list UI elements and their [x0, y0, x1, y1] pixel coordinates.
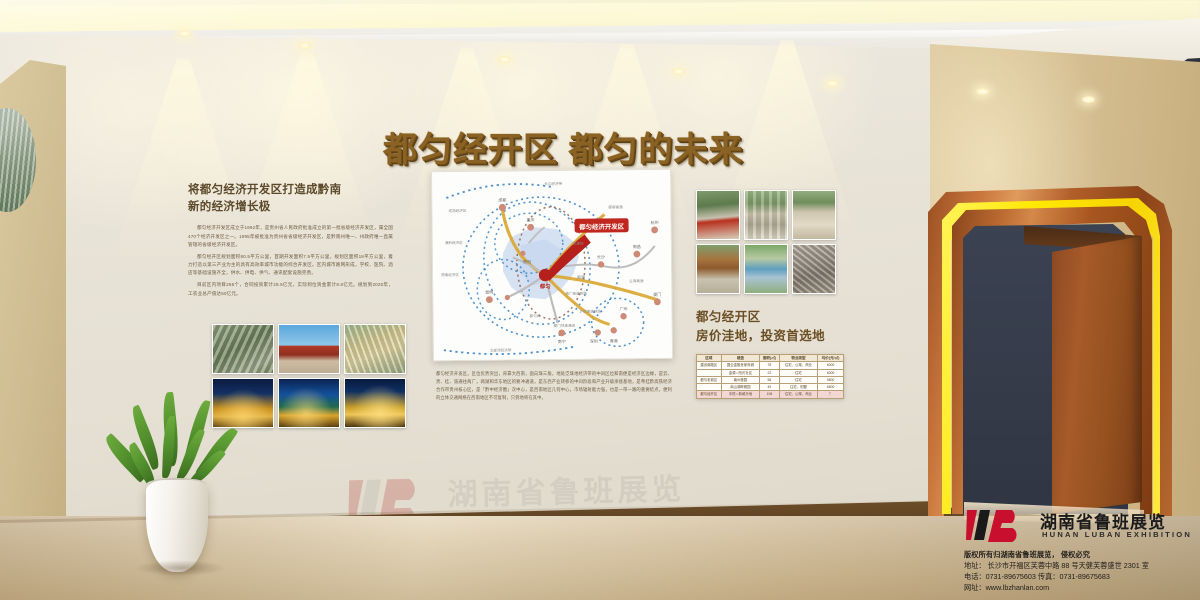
table-row: 建设南路区 国企金融世家商城 78 住宅、公寓、商业 6000	[697, 362, 844, 369]
svg-text:南昌: 南昌	[633, 243, 641, 249]
photo-thumbnail	[278, 378, 340, 428]
left-paragraph: 目前区内项目265个，合同投资累计28.5亿元，实际到位资金累计8.6亿元。规划…	[188, 281, 393, 297]
left-heading: 将都匀经济开发区打造成黔南 新的经济增长极	[188, 182, 393, 215]
table-cell: 建设南路区	[697, 362, 722, 369]
footer-brand-block: 湖南省鲁班展览 HUNAN LUBAN EXHIBITION 版权所有归湖南省鲁…	[958, 506, 1198, 598]
photo-thumbnail	[696, 190, 740, 240]
table-row: 南山湖畔雅园 49 住宅、别墅 6800	[697, 384, 844, 391]
table-cell: 国企金融世家商城	[721, 362, 760, 369]
photo-thumbnail	[212, 324, 274, 374]
planter-shadow	[134, 560, 226, 576]
table-cell: 58	[760, 376, 779, 383]
svg-text:西南经济区: 西南经济区	[441, 272, 459, 277]
table-cell: ？	[818, 391, 844, 398]
left-text-column: 将都匀经济开发区打造成黔南 新的经济增长极 都匀经济开发区成立于1992年，是贵…	[188, 182, 393, 302]
svg-text:贵阳: 贵阳	[523, 258, 531, 264]
downlight-5	[976, 88, 989, 95]
table-cell: 中恒 • 新城天地	[721, 391, 760, 398]
downlight-6	[1082, 96, 1095, 103]
photo-thumbnail	[344, 378, 406, 428]
svg-text:长沙: 长沙	[597, 253, 605, 259]
wall-graphic-panel: 都匀经开区 都匀的未来 将都匀经济开发区打造成黔南 新的经济增长极 都匀经济开发…	[188, 112, 856, 442]
footer-contact-info: 版权所有归湖南省鲁班展览， 侵权必究 地址： 长沙市开福区芙蓉中路 88 号天健…	[964, 550, 1196, 594]
table-cell: 都匀经开区	[697, 391, 722, 398]
left-body-text: 都匀经济开发区成立于1992年，是贵州省人民政府批准成立的第一批省级经济开发区，…	[188, 224, 393, 297]
table-header-cell: 面积(㎡)	[760, 355, 779, 362]
table-cell	[697, 384, 722, 391]
table-cell: 6800	[818, 384, 844, 391]
photo-thumbnail	[278, 324, 340, 374]
table-cell: 南山湖畔雅园	[721, 384, 760, 391]
downlight-2	[498, 56, 511, 63]
svg-text:凯里: 凯里	[577, 274, 585, 280]
svg-text:昆明: 昆明	[485, 290, 493, 295]
svg-text:厦门: 厦门	[653, 291, 661, 297]
luban-logo-icon	[966, 508, 1030, 542]
table-cell: 住宅	[779, 369, 818, 376]
footer-brand-english: HUNAN LUBAN EXHIBITION	[1042, 530, 1192, 539]
svg-text:深圳: 深圳	[590, 338, 598, 344]
footer-address: 地址： 长沙市开福区芙蓉中路 88 号天健芙蓉盛世 2301 室	[964, 561, 1196, 572]
svg-text:厦蓉高速: 厦蓉高速	[608, 204, 623, 209]
photo-thumbnail	[344, 324, 406, 374]
table-row-highlighted: 都匀经开区 中恒 • 新城天地 108 住宅、公寓、商业 ？	[697, 391, 844, 398]
planter-pot	[146, 480, 208, 572]
table-cell: 108	[760, 391, 779, 398]
scene-root: 都匀经开区 都匀的未来 将都匀经济开发区打造成黔南 新的经济增长极 都匀经济开发…	[0, 0, 1200, 600]
right-sub-heading: 都匀经开区 房价洼地，投资首选地	[696, 308, 825, 346]
svg-text:厦门快速通道: 厦门快速通道	[554, 323, 576, 328]
photo-thumbnail	[792, 244, 836, 294]
right-photo-grid	[696, 190, 836, 294]
map-caption: 都匀经济开发区，区位优势突出，背靠大西南，面向珠三角，地处泛珠地经济带的中间区位…	[436, 370, 672, 402]
table-header-cell: 物业类型	[779, 355, 818, 362]
downlight-4	[826, 80, 839, 87]
svg-text:都匀城: 都匀城	[530, 313, 541, 318]
table-header-cell: 区域	[697, 355, 722, 362]
table-cell: 22	[760, 369, 779, 376]
circular-photo-left	[0, 108, 36, 212]
photo-thumbnail	[792, 190, 836, 240]
regional-connectivity-map: 都匀经济开发区	[431, 169, 673, 362]
table-cell: 5800	[818, 376, 844, 383]
svg-text:兰海高速: 兰海高速	[629, 278, 644, 283]
svg-text:重庆: 重庆	[526, 216, 534, 222]
doorway[interactable]	[928, 186, 1180, 524]
table-cell: 住宅、公寓、商业	[779, 362, 818, 369]
table-cell: 住宅	[779, 376, 818, 383]
left-paragraph: 都匀经开区规划面积80.5平方公里，首期开发面积7.5平方公里，规划区面积18平…	[188, 253, 393, 278]
table-cell: 金源 • 阳光社区	[721, 369, 760, 376]
svg-text:都匀: 都匀	[539, 282, 551, 290]
svg-text:贵广高速铁路: 贵广高速铁路	[565, 291, 587, 296]
left-heading-line2: 新的经济增长极	[188, 199, 393, 216]
footer-phone: 电话：0731-89675603 传真：0731-89675683	[964, 572, 1196, 583]
svg-text:北部湾经济带: 北部湾经济带	[490, 347, 512, 352]
svg-text:杭州: 杭州	[651, 219, 659, 225]
table-cell: 南州雅园	[721, 376, 760, 383]
table-header-cell: 楼盘	[721, 355, 760, 362]
table-cell: 6000	[818, 369, 844, 376]
table-cell	[697, 369, 722, 376]
photo-thumbnail	[744, 190, 788, 240]
downlight-1	[298, 42, 311, 49]
page-title: 都匀经开区 都匀的未来	[383, 122, 743, 171]
svg-text:广州: 广州	[619, 305, 627, 311]
svg-text:南宁: 南宁	[558, 338, 566, 344]
door-panel[interactable]	[1052, 236, 1142, 514]
svg-text:滇黔经济区: 滇黔经济区	[445, 240, 463, 245]
table-cell: 住宅、别墅	[779, 384, 818, 391]
downlight-3	[672, 68, 685, 75]
svg-text:沪昆高速铁路: 沪昆高速铁路	[579, 308, 601, 313]
left-photo-grid	[212, 324, 406, 428]
potted-plant	[118, 392, 238, 572]
footer-website: 网址：www.lbzhanlan.com	[964, 583, 1196, 594]
table-cell: 6000	[818, 362, 844, 369]
map-svg: 都匀经济开发区	[432, 170, 673, 362]
table-body: 建设南路区 国企金融世家商城 78 住宅、公寓、商业 6000 金源 • 阳光社…	[697, 362, 844, 398]
table-cell: 78	[760, 362, 779, 369]
svg-text:成渝经济区: 成渝经济区	[448, 208, 466, 213]
sub-heading-line1: 都匀经开区	[696, 308, 825, 327]
svg-text:都匀经济开发区: 都匀经济开发区	[578, 222, 624, 231]
table-header-row: 区域 楼盘 面积(㎡) 物业类型 均价(元/㎡)	[697, 355, 844, 362]
table-cell: 住宅、公寓、商业	[779, 391, 818, 398]
left-paragraph: 都匀经济开发区成立于1992年，是贵州省人民政府批准成立的第一批省级经济开发区，…	[188, 224, 393, 249]
svg-text:长江经济带: 长江经济带	[544, 181, 562, 186]
price-comparison-table: 区域 楼盘 面积(㎡) 物业类型 均价(元/㎡) 建设南路区 国企金融世家商城 …	[696, 354, 844, 399]
photo-thumbnail	[696, 244, 740, 294]
footer-copyright: 版权所有归湖南省鲁班展览， 侵权必究	[964, 550, 1196, 561]
svg-text:凯里快: 凯里快	[573, 241, 584, 246]
downlight-7	[178, 30, 191, 37]
table-row: 金源 • 阳光社区 22 住宅 6000	[697, 369, 844, 376]
sub-heading-line2: 房价洼地，投资首选地	[696, 327, 825, 346]
left-heading-line1: 将都匀经济开发区打造成黔南	[188, 182, 393, 199]
svg-text:成都: 成都	[498, 196, 506, 202]
table-header-cell: 均价(元/㎡)	[818, 355, 844, 362]
table-row: 都匀老城区 南州雅园 58 住宅 5800	[697, 376, 844, 383]
photo-thumbnail	[744, 244, 788, 294]
table-cell: 都匀老城区	[697, 376, 722, 383]
svg-text:香港: 香港	[610, 337, 618, 343]
table-cell: 49	[760, 384, 779, 391]
table-head: 区域 楼盘 面积(㎡) 物业类型 均价(元/㎡)	[697, 355, 844, 362]
map-caption-text: 都匀经济开发区，区位优势突出，背靠大西南，面向珠三角，地处泛珠地经济带的中间区位…	[436, 370, 672, 402]
